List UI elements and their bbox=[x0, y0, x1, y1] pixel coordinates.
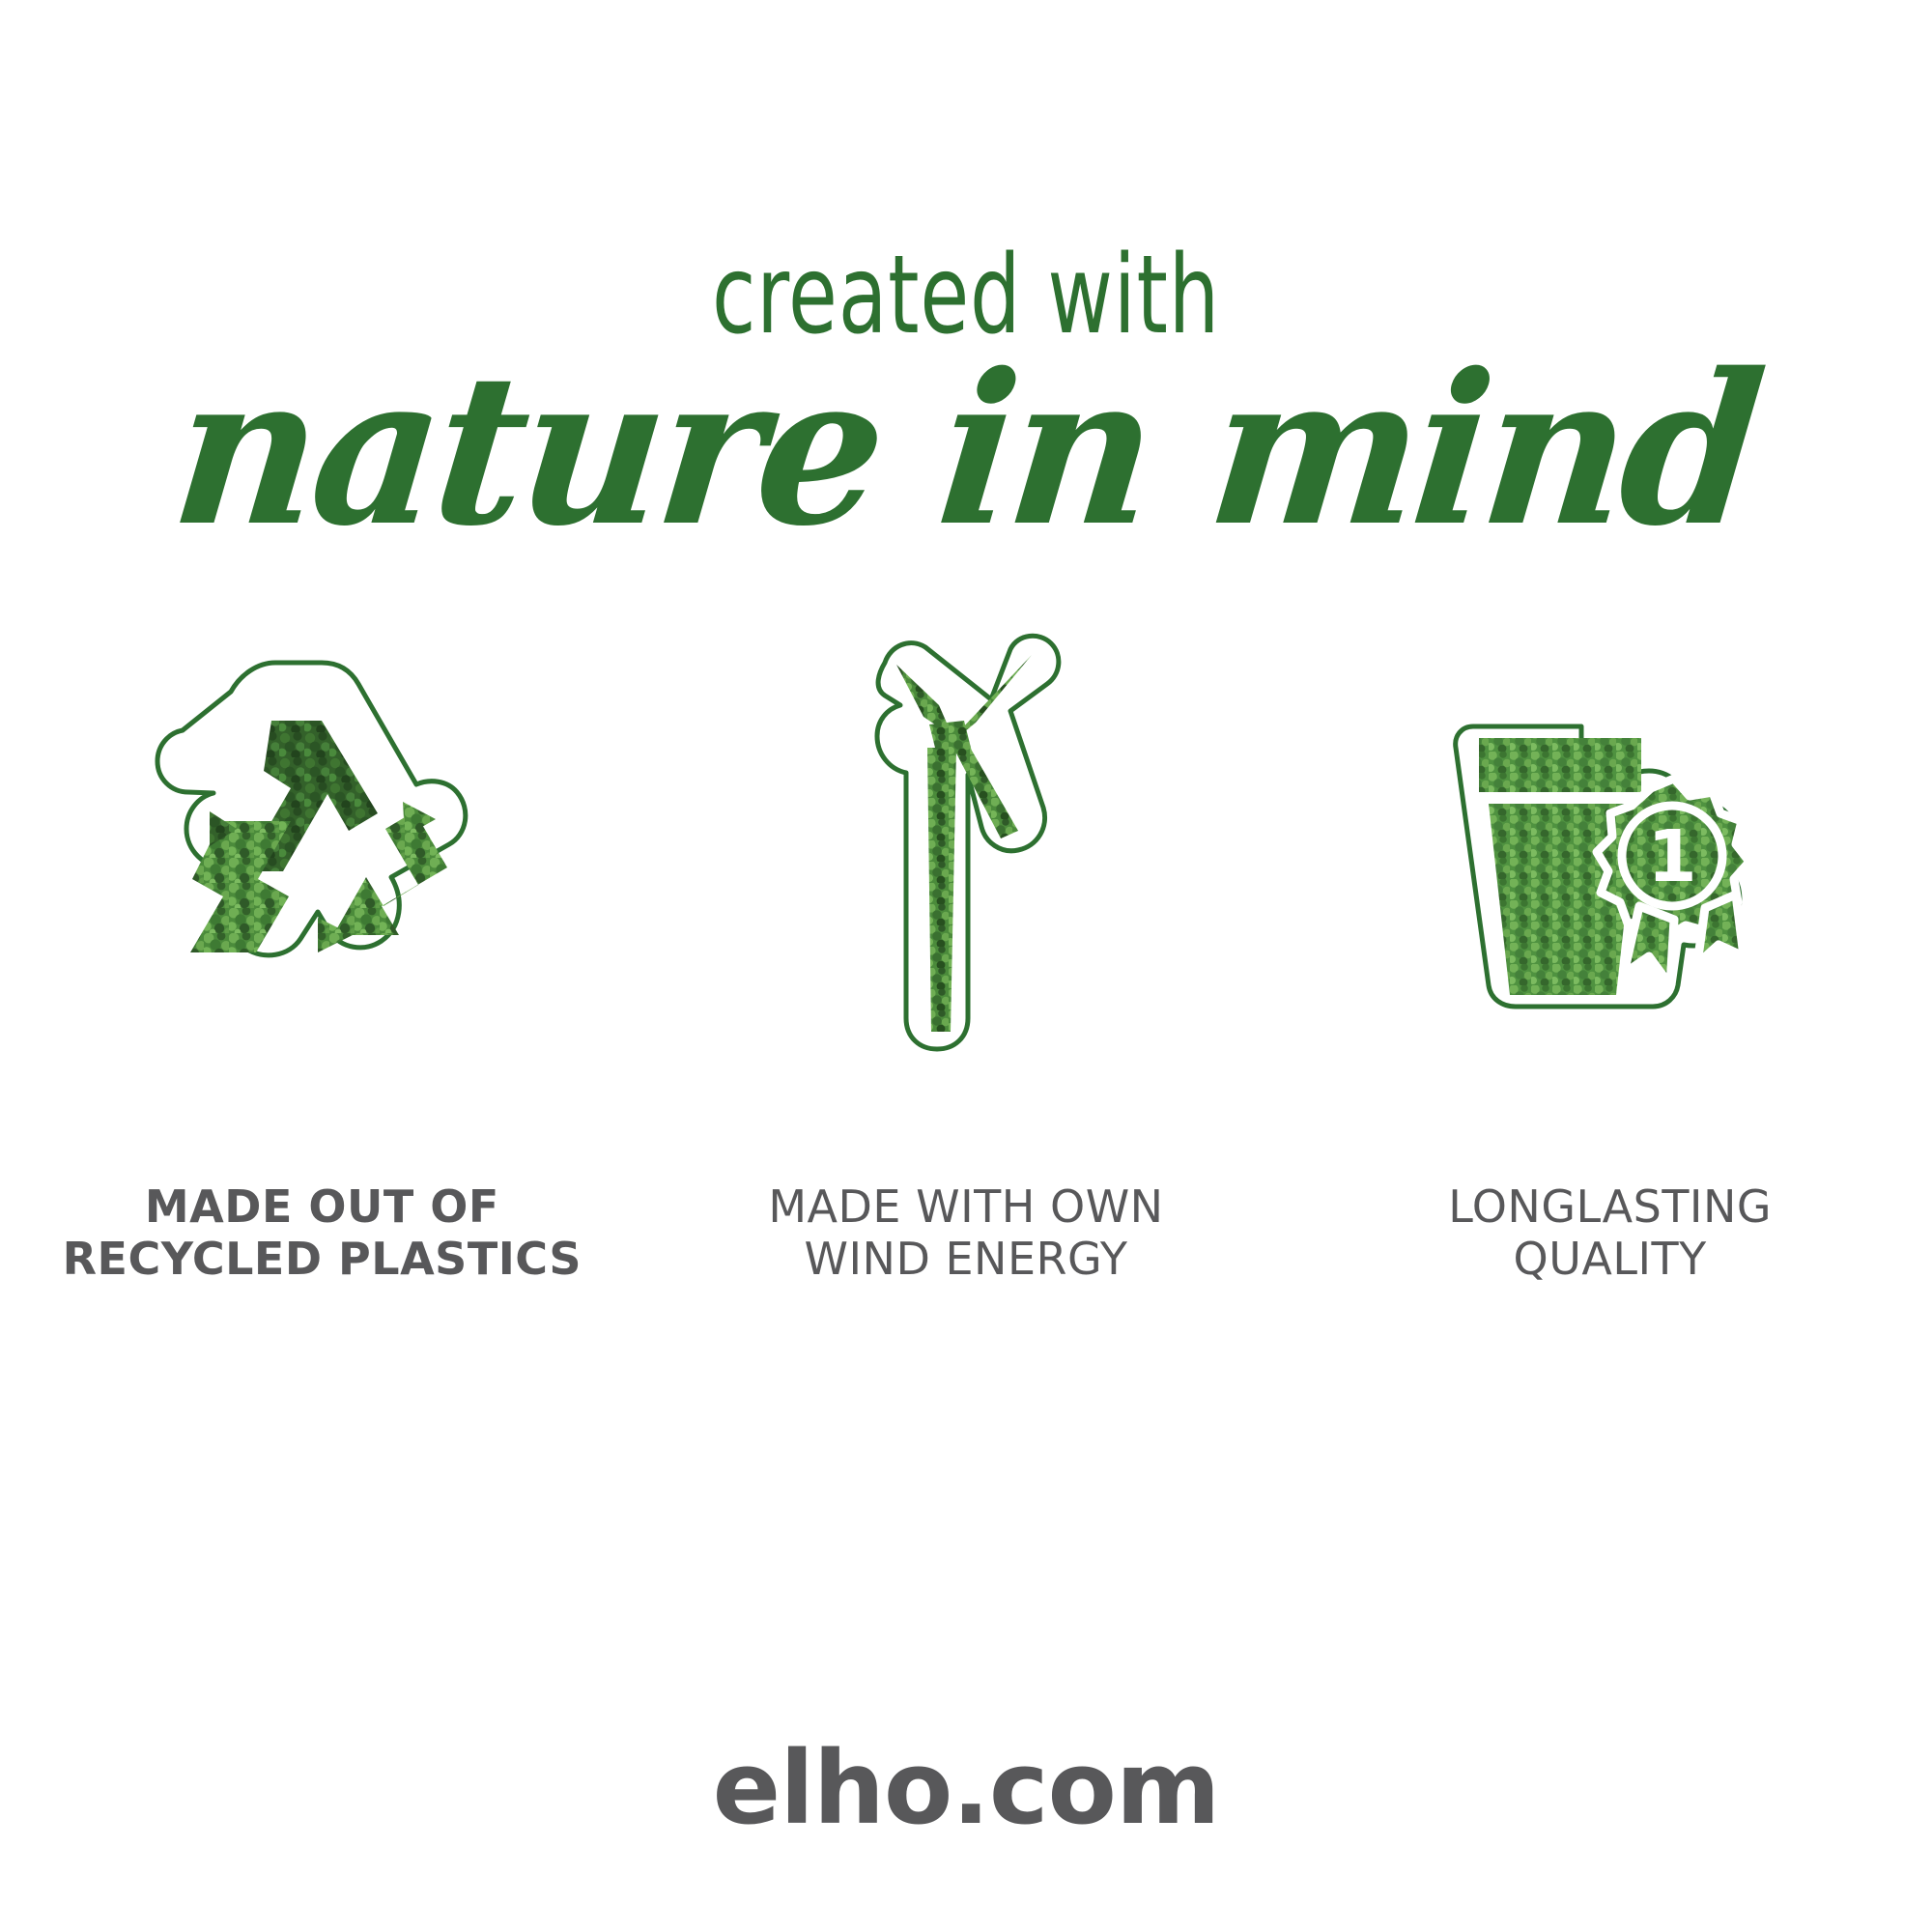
feature-recycled-plastics: MADE OUT OF RECYCLED PLASTICS bbox=[22, 618, 621, 1286]
award-badge-number: 1 bbox=[1647, 815, 1697, 898]
plant-pot-award-icon: 1 bbox=[1407, 618, 1813, 1063]
feature-label-longlasting-quality: LONGLASTING QUALITY bbox=[1448, 1180, 1772, 1286]
feature-label-recycled-plastics: MADE OUT OF RECYCLED PLASTICS bbox=[63, 1180, 582, 1286]
headline: created with nature in mind bbox=[0, 241, 1932, 554]
poster-canvas: created with nature in mind bbox=[0, 0, 1932, 1932]
feature-row: MADE OUT OF RECYCLED PLASTICS bbox=[0, 618, 1932, 1286]
feature-wind-energy: MADE WITH OWN WIND ENERGY bbox=[667, 618, 1265, 1286]
headline-line-2-script: nature in mind bbox=[38, 346, 1895, 554]
brand-wordmark[interactable]: elho.com bbox=[713, 1729, 1220, 1847]
wind-turbine-icon bbox=[763, 618, 1169, 1063]
recycle-icon bbox=[119, 618, 525, 1063]
feature-longlasting-quality: 1 LONGLASTING QUALITY bbox=[1311, 618, 1910, 1286]
footer: elho.com bbox=[0, 1729, 1932, 1847]
feature-label-wind-energy: MADE WITH OWN WIND ENERGY bbox=[768, 1180, 1163, 1286]
